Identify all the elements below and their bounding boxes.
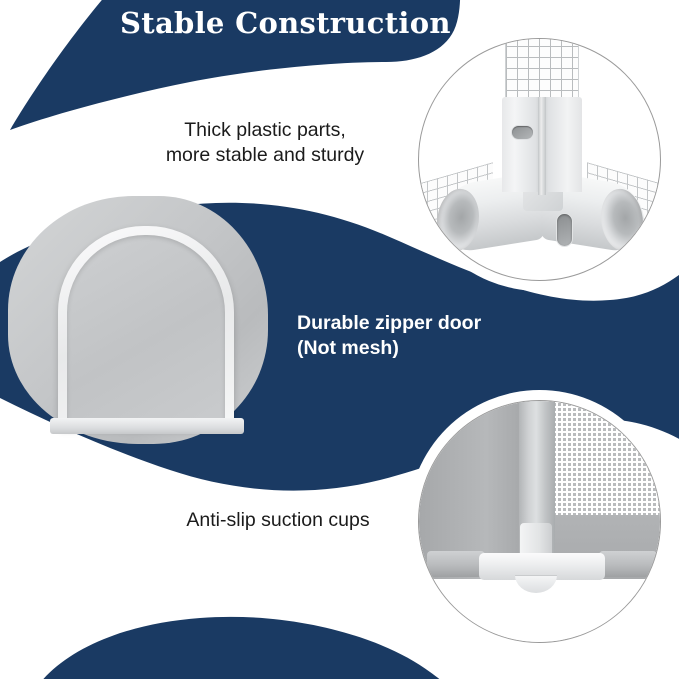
photo-suction-cup-foot <box>418 400 661 643</box>
caption-line-2: (Not mesh) <box>297 336 527 361</box>
connector-slot-vertical <box>512 126 533 139</box>
zipper-door-bottom-rail <box>50 418 244 434</box>
caption-line-2: more stable and sturdy <box>120 143 410 168</box>
playpen-mesh-panel-icon <box>551 400 661 515</box>
caption-durable-zipper-door: Durable zipper door (Not mesh) <box>297 311 527 361</box>
suction-cup-icon <box>515 575 557 593</box>
photo-zipper-door <box>8 196 268 444</box>
corner-connector-artwork <box>419 39 660 280</box>
suction-cup-artwork <box>419 401 660 642</box>
photo-corner-connector <box>418 38 661 281</box>
base-tube-left <box>427 551 485 577</box>
page-title: Stable Construction <box>120 2 440 44</box>
connector-slot-arm <box>557 214 572 246</box>
navy-bottom-blob-shape <box>34 617 452 679</box>
caption-thick-plastic-parts: Thick plastic parts, more stable and stu… <box>120 118 410 168</box>
caption-line-1: Anti-slip suction cups <box>148 508 408 533</box>
caption-line-1: Durable zipper door <box>297 311 527 336</box>
caption-line-1: Thick plastic parts, <box>120 118 410 143</box>
zipper-door-panel-inner <box>67 235 225 425</box>
infographic-canvas: Stable Construction Thick plastic parts,… <box>0 0 679 679</box>
caption-anti-slip-suction-cups: Anti-slip suction cups <box>148 508 408 533</box>
base-tube-right <box>599 551 657 577</box>
connector-vertical-seam <box>538 97 546 195</box>
